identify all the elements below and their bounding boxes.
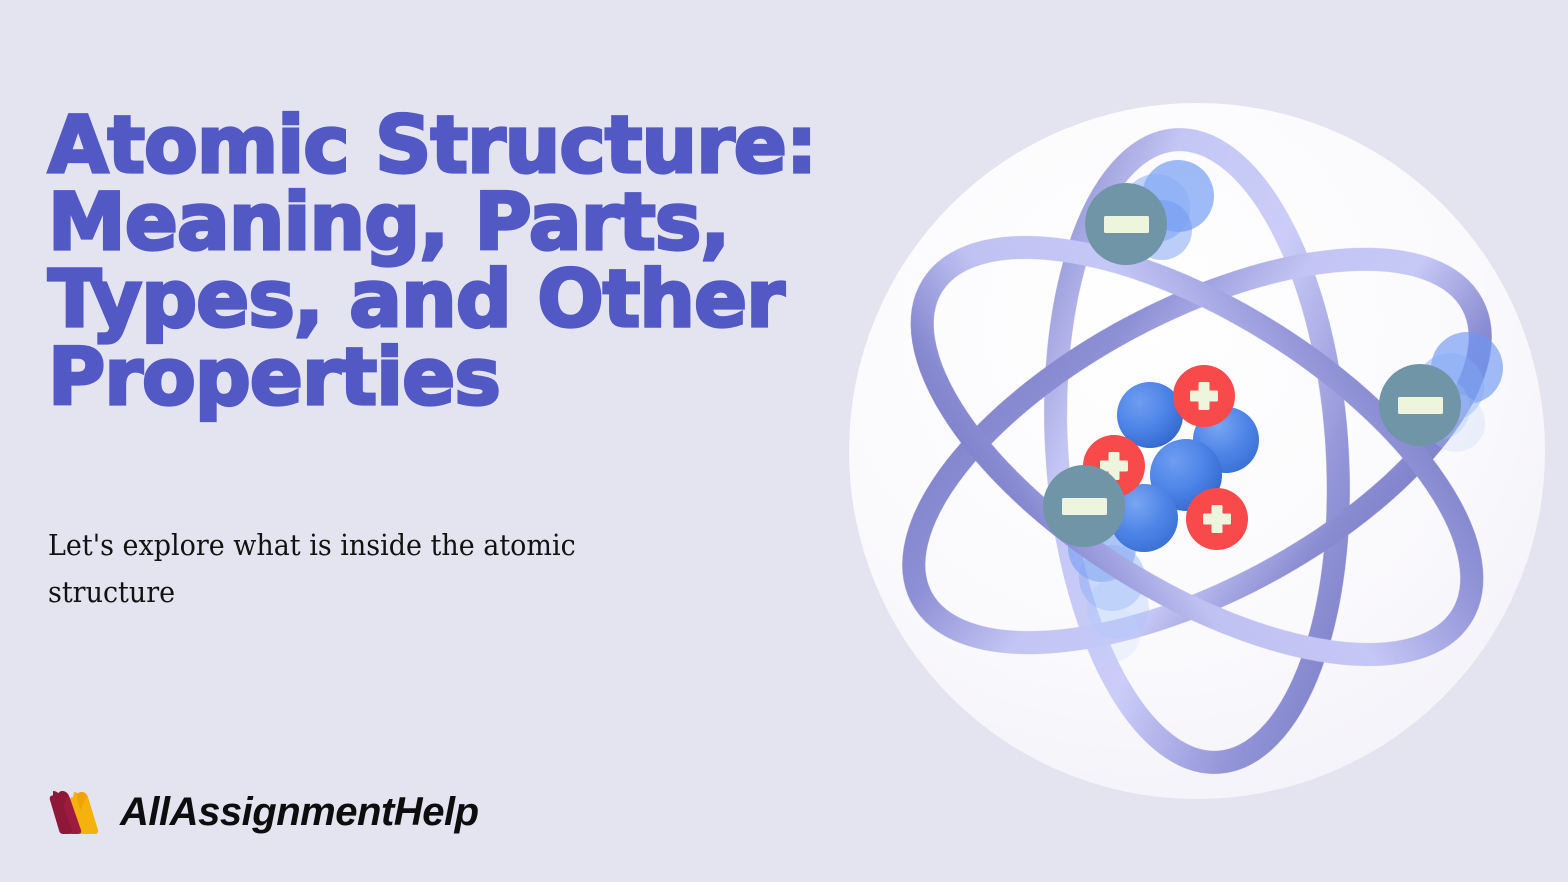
electron-bottom-left	[1043, 465, 1125, 547]
hero-banner: Atomic Structure: Meaning, Parts, Types,…	[0, 0, 1568, 882]
electron-right	[1379, 364, 1461, 446]
brand-logo-text: AllAssignmentHelp	[120, 792, 479, 832]
electron-top	[1085, 183, 1167, 265]
electron-top-minus-icon	[1104, 216, 1149, 233]
page-subtitle: Let's explore what is inside the atomic …	[48, 522, 662, 616]
atom-illustration	[826, 78, 1568, 804]
page-title: Atomic Structure: Meaning, Parts, Types,…	[48, 108, 878, 417]
allassignmenthelp-monogram-icon	[48, 789, 110, 835]
atom-diagram-svg	[826, 78, 1568, 804]
electron-right-minus-icon	[1398, 397, 1443, 414]
electron-bottom-left-minus-icon	[1062, 498, 1107, 515]
brand-logo[interactable]: AllAssignmentHelp	[48, 784, 479, 840]
hero-text-column: Atomic Structure: Meaning, Parts, Types,…	[48, 0, 878, 882]
